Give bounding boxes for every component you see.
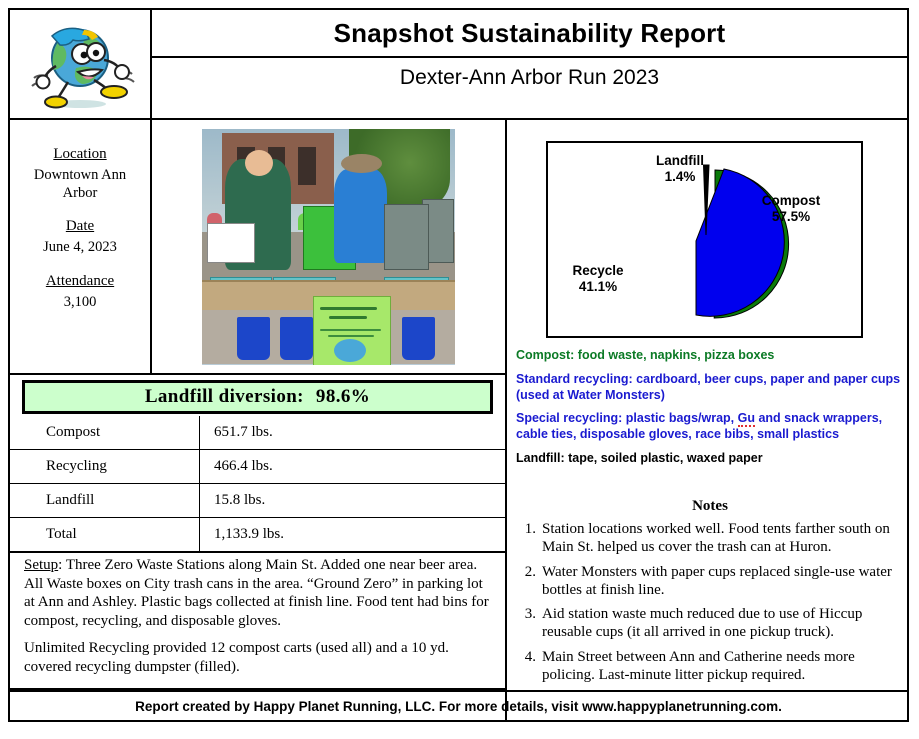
attendance-value: 3,100: [10, 294, 150, 312]
page-title: Snapshot Sustainability Report: [334, 18, 726, 49]
logo-cell: [10, 10, 152, 118]
legend-special-pre: Special recycling: plastic bags/wrap,: [516, 411, 738, 425]
note-text: Water Monsters with paper cups replaced …: [542, 563, 908, 600]
list-item: 4. Main Street between Ann and Catherine…: [516, 648, 908, 685]
note-number: 2.: [516, 563, 542, 600]
landfill-diversion-banner: Landfill diversion: 98.6%: [22, 380, 493, 414]
setup-description: Setup: Three Zero Waste Stations along M…: [10, 548, 505, 690]
setup-paragraph-1-text: : Three Zero Waste Stations along Main S…: [24, 557, 489, 629]
waste-totals-table: Compost 651.7 lbs. Recycling 466.4 lbs. …: [10, 416, 505, 553]
date-label: Date: [10, 218, 150, 235]
note-number: 4.: [516, 648, 542, 685]
attendance-label: Attendance: [10, 273, 150, 290]
report-title-row: Snapshot Sustainability Report: [152, 10, 907, 58]
note-text: Station locations worked well. Food tent…: [542, 520, 908, 557]
header-titles: Snapshot Sustainability Report Dexter-An…: [152, 10, 907, 118]
event-info-cell: Location Downtown Ann Arbor Date June 4,…: [10, 120, 152, 375]
event-photo: [202, 129, 455, 365]
setup-paragraph-1: Setup: Three Zero Waste Stations along M…: [24, 556, 491, 630]
location-value: Downtown Ann Arbor: [10, 167, 150, 202]
diversion-label: Landfill diversion:: [145, 386, 304, 408]
notes-list: 1. Station locations worked well. Food t…: [516, 520, 908, 690]
legend-standard-recycling: Standard recycling: cardboard, beer cups…: [516, 372, 904, 404]
pie-label-landfill: Landfill 1.4%: [636, 153, 724, 184]
setup-paragraph-2: Unlimited Recycling provided 12 compost …: [24, 639, 491, 676]
row-label: Recycling: [10, 450, 200, 483]
notes-title: Notes: [516, 498, 904, 515]
row-label: Landfill: [10, 484, 200, 517]
row-label: Compost: [10, 416, 200, 449]
list-item: 1. Station locations worked well. Food t…: [516, 520, 908, 557]
date-value: June 4, 2023: [10, 239, 150, 257]
note-text: Aid station waste much reduced due to us…: [542, 605, 908, 642]
waste-stream-legend: Compost: food waste, napkins, pizza boxe…: [516, 348, 904, 475]
report-subtitle-row: Dexter-Ann Arbor Run 2023: [152, 58, 907, 118]
diversion-value: 98.6%: [316, 386, 370, 408]
table-row: Compost 651.7 lbs.: [10, 416, 505, 450]
list-item: 2. Water Monsters with paper cups replac…: [516, 563, 908, 600]
table-row: Recycling 466.4 lbs.: [10, 450, 505, 484]
row-value: 651.7 lbs.: [200, 416, 505, 449]
report-frame: Snapshot Sustainability Report Dexter-An…: [8, 8, 909, 722]
page-subtitle: Dexter-Ann Arbor Run 2023: [400, 66, 659, 90]
setup-heading: Setup: [24, 557, 58, 573]
note-text: Main Street between Ann and Catherine ne…: [542, 648, 908, 685]
footer-text: Report created by Happy Planet Running, …: [135, 699, 782, 714]
sustainability-report-page: Snapshot Sustainability Report Dexter-An…: [0, 0, 919, 739]
location-label: Location: [10, 146, 150, 163]
row-label: Total: [10, 518, 200, 551]
legend-compost: Compost: food waste, napkins, pizza boxe…: [516, 348, 904, 364]
report-header: Snapshot Sustainability Report Dexter-An…: [10, 10, 907, 120]
report-footer: Report created by Happy Planet Running, …: [10, 690, 907, 720]
row-value: 1,133.9 lbs.: [200, 518, 505, 551]
note-number: 3.: [516, 605, 542, 642]
list-item: 3. Aid station waste much reduced due to…: [516, 605, 908, 642]
event-photo-cell: [152, 120, 505, 375]
pie-plot-area: Landfill 1.4% Compost 57.5% Recycle 41.1…: [548, 143, 861, 336]
legend-special-recycling: Special recycling: plastic bags/wrap, Gu…: [516, 411, 904, 443]
waste-breakdown-pie-chart: Landfill 1.4% Compost 57.5% Recycle 41.1…: [546, 141, 863, 338]
table-row: Landfill 15.8 lbs.: [10, 484, 505, 518]
legend-special-misspelled-word: Gu: [738, 411, 755, 427]
pie-label-compost: Compost 57.5%: [744, 193, 838, 224]
row-value: 15.8 lbs.: [200, 484, 505, 517]
column-divider: [505, 120, 507, 722]
running-globe-mascot-icon: [24, 16, 136, 112]
row-value: 466.4 lbs.: [200, 450, 505, 483]
pie-label-recycle: Recycle 41.1%: [554, 263, 642, 294]
note-number: 1.: [516, 520, 542, 557]
legend-landfill: Landfill: tape, soiled plastic, waxed pa…: [516, 451, 904, 467]
